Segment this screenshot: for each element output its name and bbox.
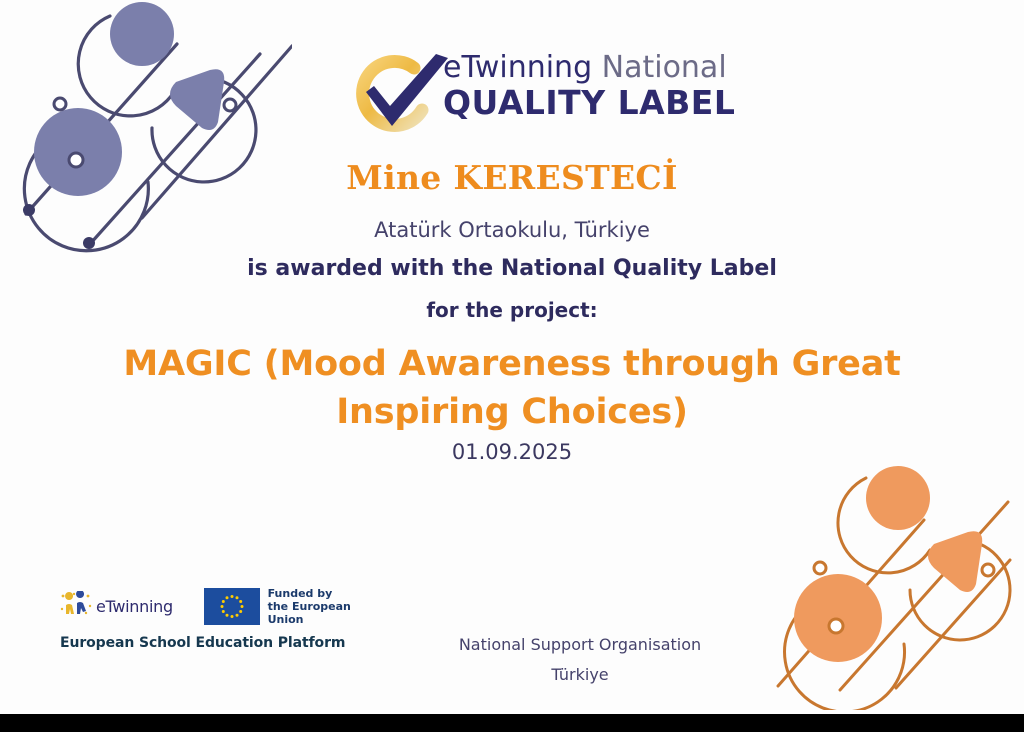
- eu-funding-logo: Funded by the European Union: [204, 587, 390, 626]
- logo-etwinning-word: eTwinning: [443, 50, 592, 85]
- bottom-black-bar: [0, 714, 1024, 732]
- deco-teardrop: [170, 69, 224, 130]
- award-date: 01.09.2025: [0, 440, 1024, 464]
- nso-line-1: National Support Organisation: [360, 630, 800, 660]
- decorative-corner-bottom-right: [762, 440, 1024, 710]
- logo-wordmark: eTwinning National QUALITY LABEL: [443, 50, 703, 122]
- award-statement: is awarded with the National Quality Lab…: [0, 256, 1024, 281]
- eu-funding-line-1: Funded by: [268, 587, 390, 600]
- school-and-country: Atatürk Ortaokulu, Türkiye: [0, 218, 1024, 242]
- quality-label-logo: eTwinning National QUALITY LABEL: [340, 44, 700, 144]
- eu-funding-text: Funded by the European Union: [268, 587, 390, 626]
- deco-circle-filled: [866, 466, 930, 530]
- european-school-education-platform-label: European School Education Platform: [60, 635, 390, 651]
- eu-funding-line-2: the European Union: [268, 600, 390, 626]
- logo-line-1: eTwinning National: [443, 50, 703, 86]
- deco-circle-filled: [794, 574, 882, 662]
- eu-flag-icon: [204, 588, 260, 625]
- etwinning-logo: eTwinning: [60, 589, 180, 623]
- for-the-project-label: for the project:: [0, 298, 1024, 322]
- certificate-image: eTwinning National QUALITY LABEL Mine KE…: [0, 0, 1024, 732]
- quality-label-logo-mark: [340, 48, 460, 140]
- nso-line-2: Türkiye: [360, 660, 800, 690]
- deco-teardrop: [928, 531, 982, 592]
- certificate-page: eTwinning National QUALITY LABEL Mine KE…: [0, 0, 1024, 714]
- recipient-name: Mine KERESTECİ: [0, 158, 1024, 197]
- logo-quality-label-word: QUALITY LABEL: [443, 84, 703, 122]
- deco-circle-filled: [110, 2, 174, 66]
- logo-national-word: National: [592, 50, 727, 85]
- etwinning-people-icon: [60, 591, 94, 621]
- etwinning-wordmark: eTwinning: [96, 597, 173, 616]
- project-title: MAGIC (Mood Awareness through Great Insp…: [40, 340, 984, 436]
- national-support-organisation: National Support Organisation Türkiye: [360, 630, 800, 690]
- footer-branding: eTwinning: [60, 585, 390, 651]
- footer-logo-row: eTwinning: [60, 585, 390, 627]
